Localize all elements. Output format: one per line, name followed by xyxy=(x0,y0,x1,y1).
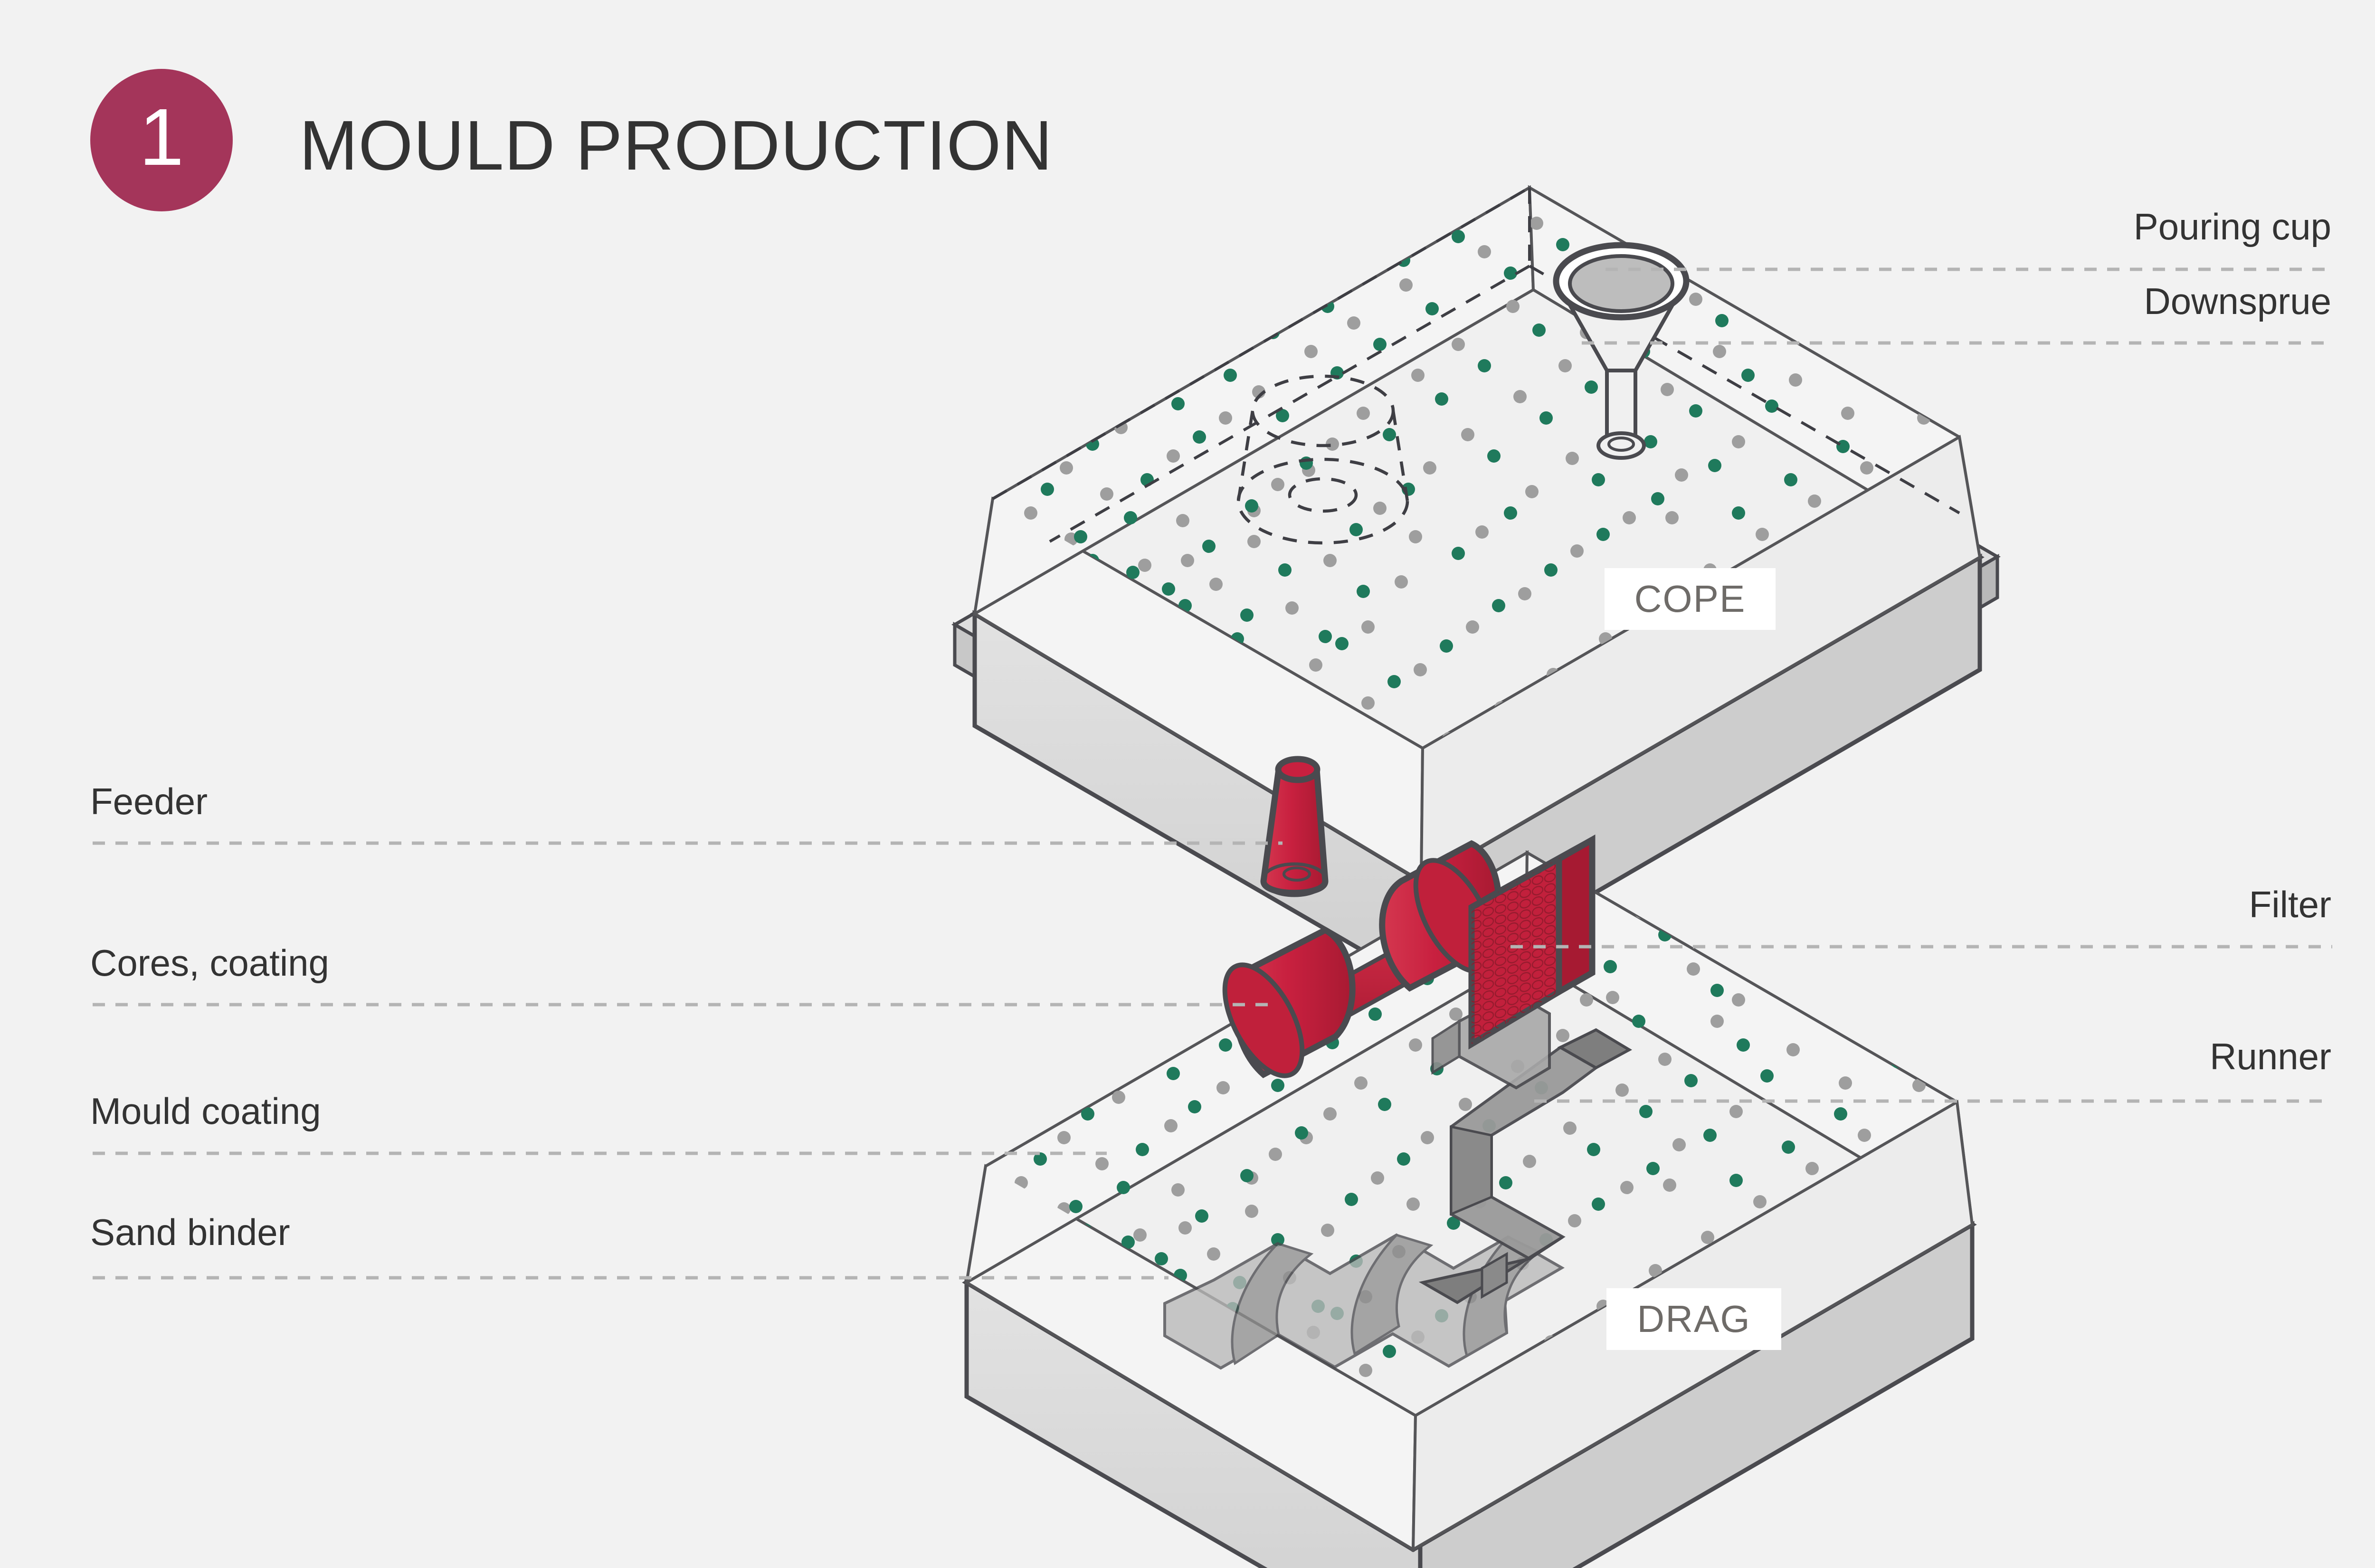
diagram-canvas: 1 MOULD PRODUCTION FeederCores, coatingM… xyxy=(0,0,2375,1568)
label-feeder: Feeder xyxy=(90,783,208,820)
label-sand-binder: Sand binder xyxy=(90,1214,290,1251)
isometric-illustration xyxy=(0,0,2375,1568)
flask-tag-drag: DRAG xyxy=(1606,1288,1781,1350)
label-pouring-cup: Pouring cup xyxy=(2134,208,2331,245)
step-badge: 1 xyxy=(90,69,233,211)
label-filter: Filter xyxy=(2249,886,2331,923)
label-runner: Runner xyxy=(2210,1038,2331,1075)
page-title: MOULD PRODUCTION xyxy=(299,105,1053,186)
label-cores-coating: Cores, coating xyxy=(90,944,329,981)
label-mould-coating: Mould coating xyxy=(90,1093,321,1130)
step-number: 1 xyxy=(139,97,184,178)
downsprue xyxy=(1598,371,1644,458)
label-downsprue: Downsprue xyxy=(2144,283,2331,320)
drag-flask xyxy=(967,840,1972,1568)
flask-tag-cope: COPE xyxy=(1605,568,1776,630)
